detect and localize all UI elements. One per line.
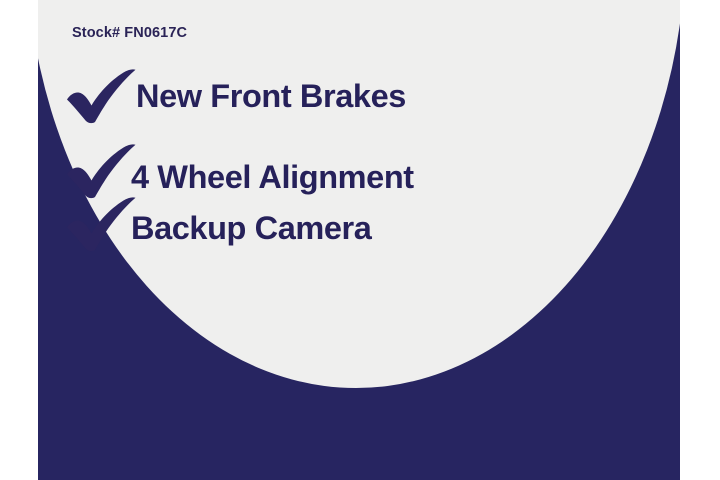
list-item-label: 4 Wheel Alignment [131, 149, 414, 205]
stock-number-value: FN0617C [124, 25, 187, 41]
vehicle-feature-graphic-card: Stock# FN0617C New Front Brakes 4 Wheel … [38, 0, 680, 480]
stock-number-label: Stock# [72, 25, 120, 41]
stock-number: Stock# FN0617C [72, 25, 187, 41]
list-item-label: Backup Camera [131, 200, 371, 256]
checkmark-icon [64, 68, 138, 124]
list-item-label: New Front Brakes [136, 68, 406, 124]
checkmark-icon [64, 196, 138, 252]
checkmark-icon [64, 143, 138, 199]
feature-list: Stock# FN0617C New Front Brakes 4 Wheel … [38, 0, 680, 480]
